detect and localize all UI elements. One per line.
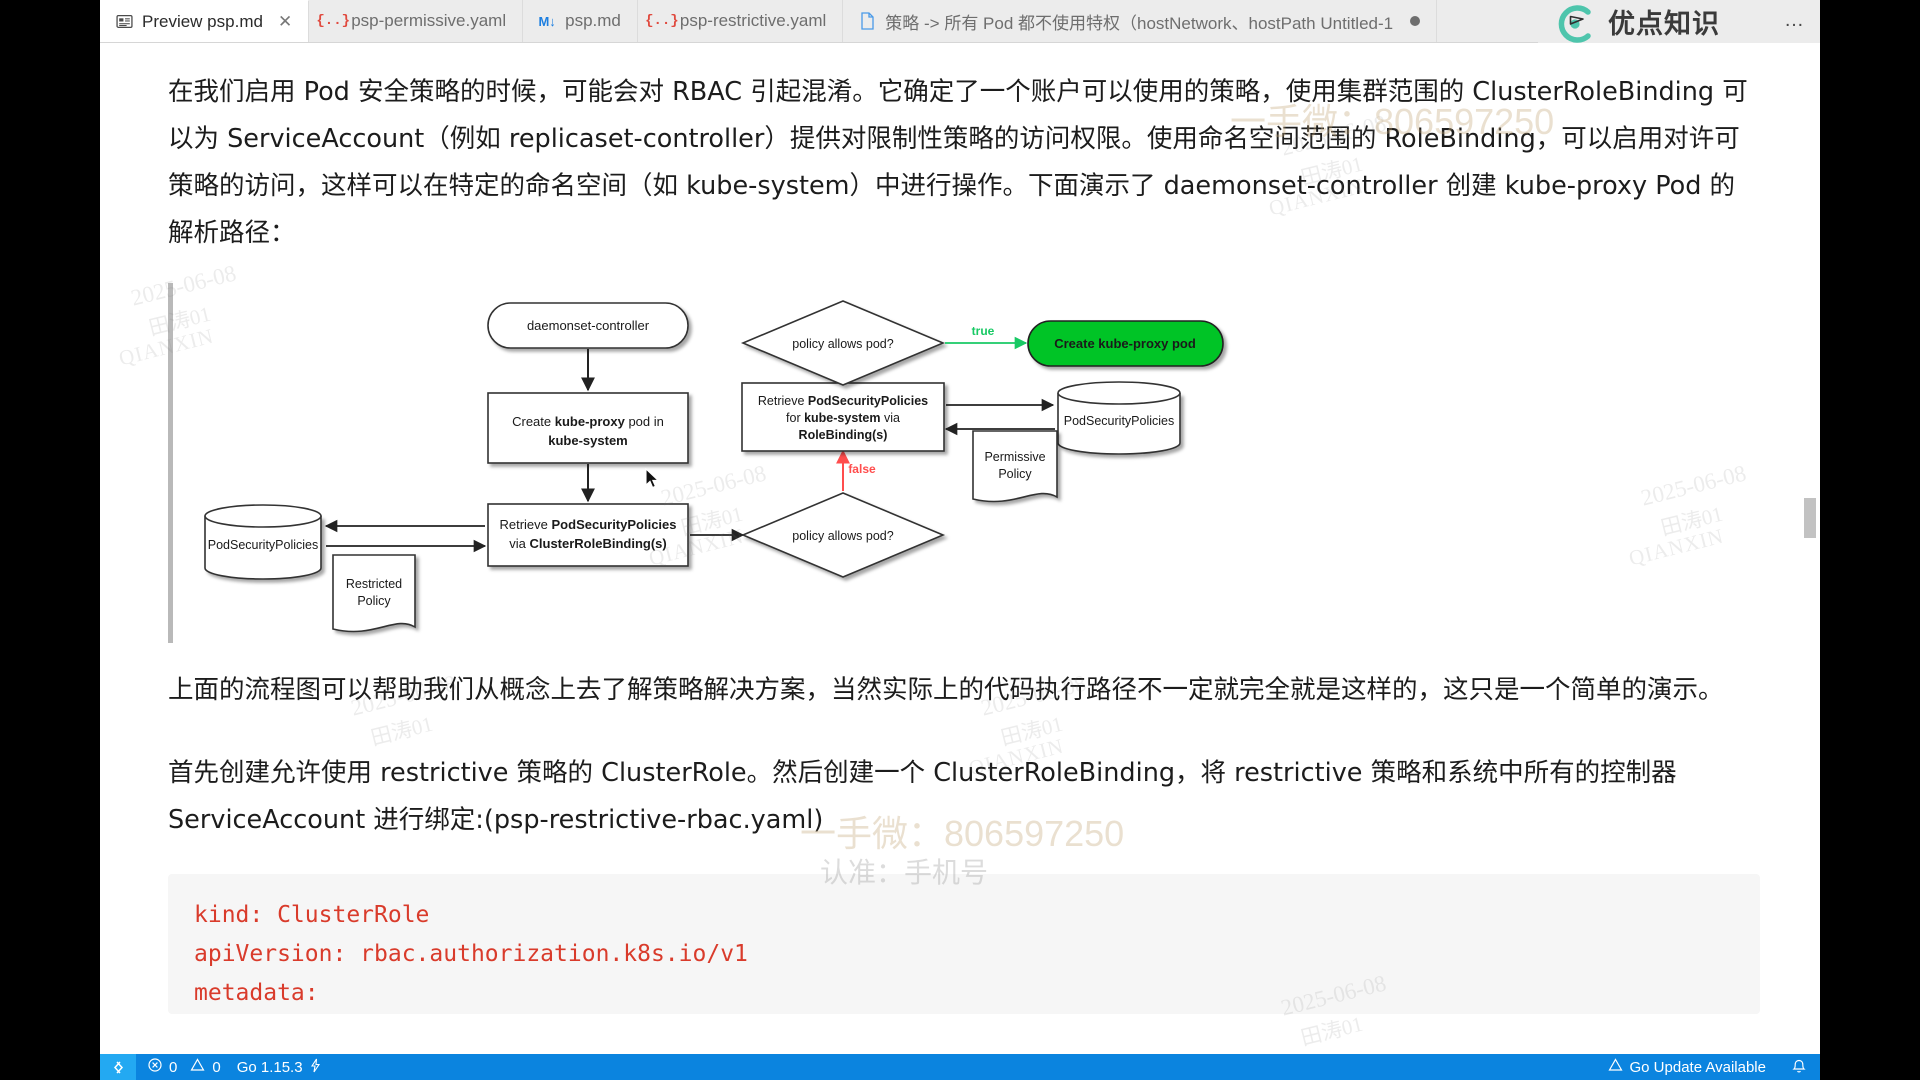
flowchart-blockquote: daemonset-controller Create kube-proxy p… <box>168 283 1760 643</box>
warning-icon <box>190 1058 205 1076</box>
paragraph-2: 上面的流程图可以帮助我们从概念上去了解策略解决方案，当然实际上的代码执行路径不一… <box>168 667 1753 714</box>
logo-text: 优点知识 <box>1608 2 1720 41</box>
svg-text:Policy: Policy <box>998 467 1032 481</box>
watermark-name: 田涛01 <box>1297 1008 1365 1052</box>
left-letterbox <box>0 0 100 1080</box>
tab-close-icon[interactable]: ✕ <box>278 12 292 32</box>
node-retrieve-clusterrolebinding: Retrieve PodSecurityPolicies via Cluster… <box>488 504 688 566</box>
status-bar: 0 0 Go 1.15.3 <box>100 1054 1820 1080</box>
node-permissive-policy: Permissive Policy <box>973 431 1057 502</box>
go-version-label: Go 1.15.3 <box>237 1059 303 1076</box>
svg-text:for kube-system via: for kube-system via <box>786 411 900 425</box>
window-more-icon[interactable]: … <box>1784 9 1806 32</box>
svg-text:Restricted: Restricted <box>346 577 402 591</box>
svg-text:Permissive: Permissive <box>984 450 1045 464</box>
svg-text:via ClusterRoleBinding(s): via ClusterRoleBinding(s) <box>509 536 666 551</box>
preview-icon <box>115 13 133 31</box>
node-label: Create kube-proxy pod <box>1054 336 1196 351</box>
node-create-kube-proxy-pod: Create kube-proxy pod <box>1028 321 1223 366</box>
code-block[interactable]: kind: ClusterRole apiVersion: rbac.autho… <box>168 874 1760 1014</box>
svg-text:Retrieve PodSecurityPolicies: Retrieve PodSecurityPolicies <box>758 394 928 408</box>
node-label: policy allows pod? <box>792 337 893 351</box>
json-icon: {..} <box>653 12 671 30</box>
paragraph-3: 首先创建允许使用 restrictive 策略的 ClusterRole。然后创… <box>168 750 1753 844</box>
notifications-bell-icon[interactable] <box>1792 1059 1806 1075</box>
tab-psp-restrictive-yaml[interactable]: {..} psp-restrictive.yaml <box>638 0 843 42</box>
node-daemonset-controller: daemonset-controller <box>488 303 688 348</box>
warning-count: 0 <box>212 1059 220 1076</box>
node-label: policy allows pod? <box>792 529 893 543</box>
edge-label-true: true <box>972 324 995 338</box>
flowchart-image: daemonset-controller Create kube-proxy p… <box>183 283 1283 643</box>
logo-circle-icon <box>1552 1 1598 47</box>
error-icon <box>148 1058 162 1076</box>
warning-icon <box>1608 1058 1623 1076</box>
node-label: PodSecurityPolicies <box>208 538 318 552</box>
remote-window-icon[interactable] <box>100 1054 136 1080</box>
tab-untitled-1[interactable]: 策略 -> 所有 Pod 都不使用特权（hostNetwork、hostPath… <box>843 0 1437 42</box>
problems-status[interactable]: 0 0 <box>136 1058 233 1076</box>
tab-psp-permissive-yaml[interactable]: {..} psp-permissive.yaml <box>309 0 523 42</box>
tab-dirty-indicator <box>1410 16 1420 26</box>
edge-label-false: false <box>848 462 876 476</box>
json-icon: {..} <box>324 12 342 30</box>
svg-text:kube-system: kube-system <box>548 433 627 448</box>
tab-label: psp.md <box>565 11 621 31</box>
svg-text:Create kube-proxy pod in: Create kube-proxy pod in <box>512 414 664 429</box>
error-count: 0 <box>169 1059 177 1076</box>
node-decision-lower: policy allows pod? <box>743 493 943 577</box>
node-retrieve-rolebinding: Retrieve PodSecurityPolicies for kube-sy… <box>742 383 944 451</box>
tab-label: psp-permissive.yaml <box>351 11 506 31</box>
paragraph-1: 在我们启用 Pod 安全策略的时候，可能会对 RBAC 引起混淆。它确定了一个账… <box>168 69 1753 257</box>
vertical-scrollbar[interactable] <box>1804 498 1816 538</box>
node-psp-db-right: PodSecurityPolicies <box>1058 382 1180 454</box>
tab-label: 策略 -> 所有 Pod 都不使用特权（hostNetwork、hostPath… <box>885 9 1393 34</box>
brand-logo: 优点知识 <box>1538 0 1820 43</box>
markdown-preview[interactable]: 在我们启用 Pod 安全策略的时候，可能会对 RBAC 引起混淆。它确定了一个账… <box>100 43 1820 1054</box>
markdown-icon: M↓ <box>538 12 556 30</box>
go-version-status[interactable]: Go 1.15.3 <box>233 1058 333 1077</box>
editor-window: Preview psp.md ✕ {..} psp-permissive.yam… <box>100 0 1820 1080</box>
go-gopls-icon <box>310 1058 321 1077</box>
node-psp-db-left: PodSecurityPolicies <box>205 505 321 579</box>
tab-label: Preview psp.md <box>142 12 263 32</box>
node-decision-upper: policy allows pod? <box>743 301 943 385</box>
code-content: kind: ClusterRole apiVersion: rbac.autho… <box>194 896 1734 1013</box>
node-label: daemonset-controller <box>527 318 650 333</box>
tab-label: psp-restrictive.yaml <box>680 11 826 31</box>
svg-text:Retrieve PodSecurityPolicies: Retrieve PodSecurityPolicies <box>499 517 676 532</box>
screen: Preview psp.md ✕ {..} psp-permissive.yam… <box>0 0 1920 1080</box>
node-label: PodSecurityPolicies <box>1064 414 1174 428</box>
file-icon <box>858 12 876 30</box>
node-restricted-policy: Restricted Policy <box>333 555 415 632</box>
tab-psp-md[interactable]: M↓ psp.md <box>523 0 638 42</box>
go-update-status[interactable]: Go Update Available <box>1608 1058 1767 1076</box>
go-update-label: Go Update Available <box>1630 1059 1767 1076</box>
node-create-pod: Create kube-proxy pod in kube-system <box>488 393 688 463</box>
svg-text:Policy: Policy <box>357 594 391 608</box>
svg-text:RoleBinding(s): RoleBinding(s) <box>799 428 888 442</box>
tab-preview-psp-md[interactable]: Preview psp.md ✕ <box>100 0 309 42</box>
right-letterbox <box>1820 0 1920 1080</box>
